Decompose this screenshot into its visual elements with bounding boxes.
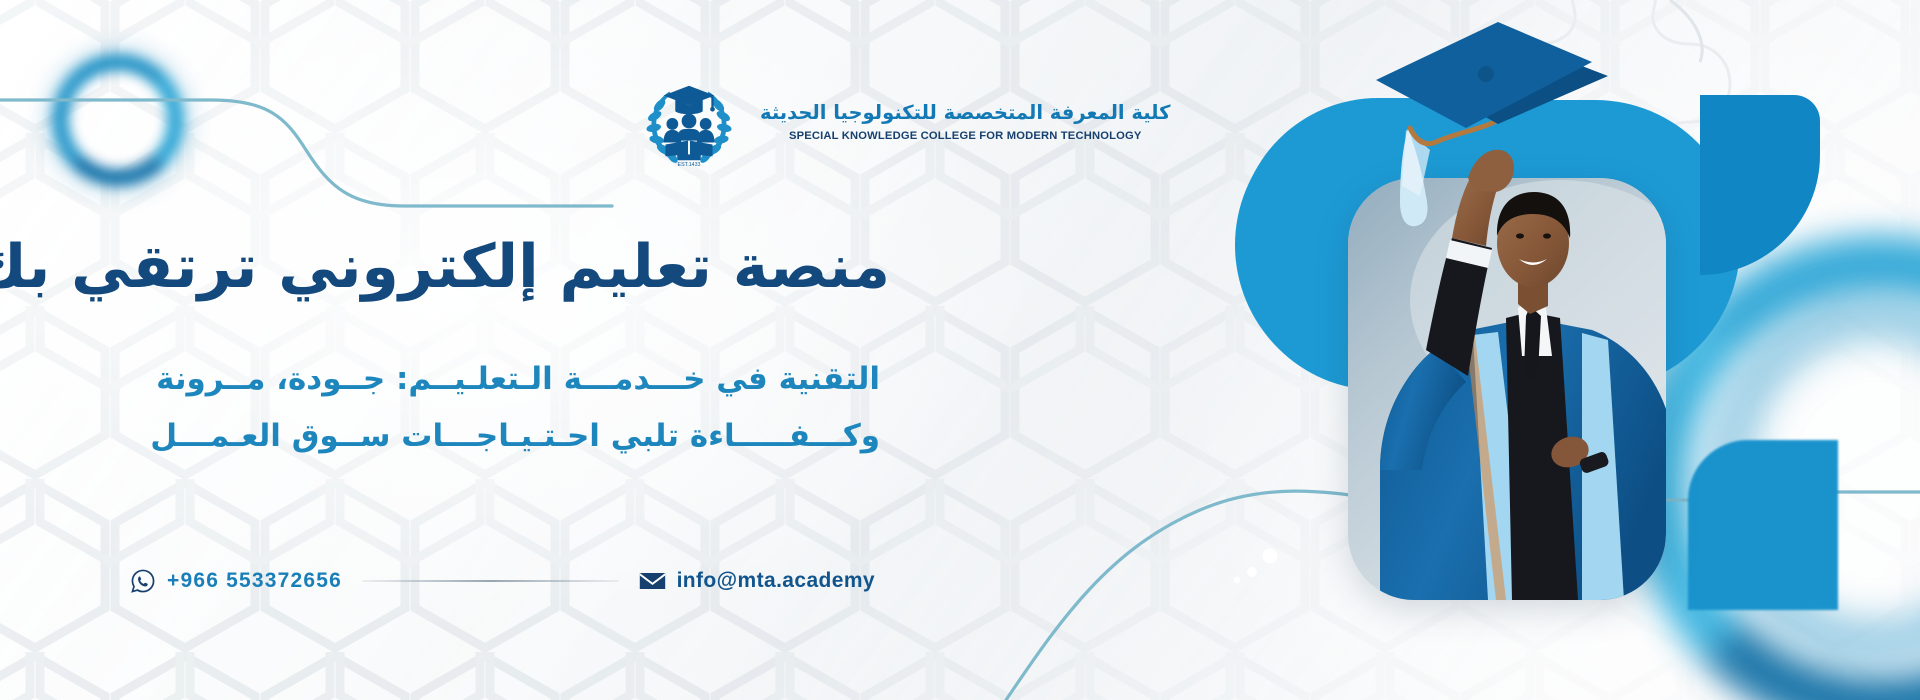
email-address: info@mta.academy [677,569,875,593]
brand-name-english: SPECIAL KNOWLEDGE COLLEGE FOR MODERN TEC… [760,130,1170,142]
email-contact[interactable]: info@mta.academy [639,569,875,593]
decorative-ring-left [52,54,184,186]
brand-logo-text: كلية المعرفة المتخصصة للتكنولوجيا الحديث… [760,100,1170,142]
envelope-icon [639,571,666,591]
hero-banner: كلية المعرفة المتخصصة للتكنولوجيا الحديث… [0,0,1920,700]
whatsapp-icon [130,568,156,594]
graduate-photo-frame [1348,178,1666,600]
contact-bar: +966 553372656 info@mta.academy [130,568,875,594]
brand-logo: كلية المعرفة المتخصصة للتكنولوجيا الحديث… [640,72,1170,170]
whatsapp-contact[interactable]: +966 553372656 [130,568,342,594]
subtitle-line-2: وكـــفـــــاءة تلبي احـتـيـاجـــات ســوق… [150,418,880,454]
graduation-emblem-icon: EST.1433 [640,72,738,170]
subtitle-line-1: التقنية في خـــدمـــة الـتعلـيــم: جــود… [156,361,880,397]
brand-name-arabic: كلية المعرفة المتخصصة للتكنولوجيا الحديث… [760,100,1170,126]
phone-number: +966 553372656 [167,569,342,593]
emblem-motto: EST.1433 [678,162,701,168]
page-title: منصة تعليم إلكتروني ترتقي بك [0,232,890,302]
contact-separator [362,580,619,582]
blue-blob-bottom [1688,440,1838,610]
